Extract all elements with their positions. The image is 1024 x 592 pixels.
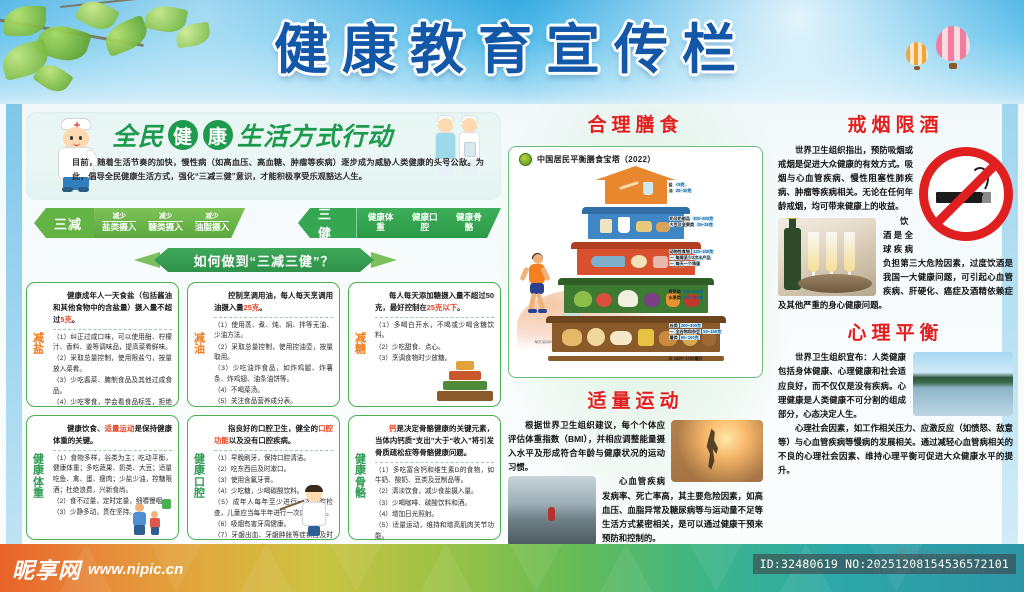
runner-figure-icon	[521, 254, 555, 316]
topic-head-reduce-sugar: 每人每天添加糖摄入量不超过50克，最好控制在25克以下。	[375, 290, 494, 314]
topic-tag-healthy-oral: 健康口腔	[191, 454, 208, 501]
list-item: （1）纠正过咸口味，可以使用醋、柠檬汁、香料、姜等调味品，提高菜肴鲜味。	[53, 333, 172, 354]
topic-box-healthy-oral: 健康口腔 指良好的口腔卫生，健全的口腔功能以及没有口腔疾病。 （1）早晚刷牙，保…	[187, 415, 340, 540]
food-pyramid-card: 中国居民平衡膳食宝塔（2022） 每天活动6000步	[508, 146, 763, 378]
list-item: （3）少吃酱菜、腌制食品及其他过咸食品。	[53, 376, 172, 397]
topic-tag-reduce-salt: 减盐	[30, 333, 47, 356]
mental-block: 世界卫生组织宣布：人类健康包括身体健康、心理健康和社会适应良好，而不仅仅是没有疾…	[778, 350, 1013, 477]
list-item: （4）增加日光照射。	[375, 510, 494, 521]
list-item: （4）少吃糖，少喝碳酸饮料。	[214, 487, 333, 498]
list-item: （2）清淡饮食，减少食盐摄入量。	[375, 487, 494, 498]
list-item: （4）不喝菜汤。	[214, 386, 333, 397]
three-reduce-three-health-banners: 三减 减少 盐类摄入 减少 糖类摄入 减少 油脂摄入	[26, 208, 501, 242]
intro-card: 全民 健 康 生活方式行动 目前，随着生活节奏的加快，慢性病（如高血压、高血糖、…	[26, 112, 501, 200]
three-health-items: 健康体重 健康口腔 健康骨骼	[357, 208, 501, 238]
list-item: （3）使用含氟牙膏。	[214, 476, 333, 487]
no-smoking-icon	[919, 147, 1013, 241]
topic-tag-reduce-oil: 减油	[191, 333, 208, 356]
list-item: （1）多喝白开水，不喝或少喝含糖饮料。	[375, 321, 494, 342]
list-item: （1）食物多样，谷类为主；吃动平衡，健康体重；多吃蔬果、奶类、大豆；适量吃鱼、禽…	[53, 454, 172, 497]
three-health-head: 三健	[298, 208, 357, 238]
list-item: （2）采取总量控制，使用限盐勺，按量放入菜肴。	[53, 354, 172, 375]
asset-id-label: ID:32480619 NO:20251208154536572101	[753, 554, 1016, 574]
page-title: 健康教育宣传栏	[0, 22, 1024, 79]
pyramid-header: 中国居民平衡膳食宝塔（2022）	[509, 147, 762, 166]
photo-champagne-glasses	[778, 218, 876, 296]
list-item: （3）少吃油炸食品，如炸鸡腿、炸薯条、炸鸡翅、油条油饼等。	[214, 364, 333, 385]
list-item: （2）采取总量控制，使用控油壶，按量取用。	[214, 343, 333, 364]
pyramid-label-protein: 动物性食物 120~200克 —每周至少2次水产品 —每天一个鸡蛋	[669, 249, 715, 267]
list-item: （1）使用蒸、煮、炖、焖、拌等无油、少油方法。	[214, 321, 333, 342]
three-reduce-banner: 三减 减少 盐类摄入 减少 糖类摄入 减少 油脂摄入	[34, 208, 245, 238]
list-item: （7）牙龈出血、牙龈肿胀等症状应及时到医院诊治。	[214, 531, 333, 540]
intro-paragraph: 目前，随着生活节奏的加快，慢性病（如高血压、高血糖、肿瘤等疾病）逐步成为威胁人类…	[72, 156, 484, 185]
health-education-poster: 健康教育宣传栏 全民 健 康 生活方式行动	[0, 0, 1024, 592]
section-title-mental: 心理平衡	[778, 318, 1013, 345]
three-health-banner: 三健 健康体重 健康口腔 健康骨骼	[298, 208, 501, 238]
slogan-badge-kang: 康	[203, 120, 233, 150]
mental-paragraph-2: 心理社会因素，如工作相关压力、应激反应（如愤怒、敌意等）与心血管疾病等慢病的发展…	[778, 421, 1013, 477]
topic-box-reduce-sugar: 减糖 每人每天添加糖摄入量不超过50克，最好控制在25克以下。 （1）多喝白开水…	[348, 282, 501, 407]
middle-column: 合理膳食 中国居民平衡膳食宝塔（2022）	[508, 110, 763, 546]
photo-lakeside-runner	[508, 476, 596, 546]
slogan-badge-jian: 健	[168, 120, 198, 150]
reduce-item-sugar: 减少 糖类摄入	[148, 213, 182, 233]
topic-head-healthy-bones: 钙是决定骨骼健康的关键元素，当体内钙质“支出”大于“收入”将引发骨质疏松症等骨骼…	[375, 423, 494, 459]
pyramid-label-vegetables: 蔬菜类 300~500克 水果类 200~350克	[669, 289, 704, 301]
topic-tag-healthy-bones: 健康骨骼	[352, 454, 369, 501]
section-title-smoking: 戒烟限酒	[778, 110, 1013, 137]
list-item: （5）关注食品营养成分表。	[214, 397, 333, 407]
topic-box-reduce-oil: 减油 控制烹调用油，每人每天烹调用油摄入量25克。 （1）使用蒸、煮、炖、焖、拌…	[187, 282, 340, 407]
topic-list-healthy-oral: （1）早晚刷牙，保持口腔清洁。 （2）吃东西后及时漱口。 （3）使用含氟牙膏。 …	[214, 454, 333, 540]
brand-url: www.nipic.cn	[88, 561, 183, 578]
topic-tag-healthy-weight: 健康体重	[30, 454, 47, 501]
list-item: （3）少喝咖啡、碳酸饮料和酒。	[375, 499, 494, 510]
list-item: （2）少吃甜食、点心。	[375, 343, 494, 354]
slogan-part-1: 全民	[112, 117, 164, 153]
health-item-weight: 健康体重	[365, 213, 397, 232]
health-item-oral: 健康口腔	[409, 213, 441, 232]
right-column: 戒烟限酒 世界卫生组织指出，预防吸烟或戒烟是促进大众健康的有效方式。吸烟与心血管…	[778, 110, 1013, 546]
balanced-diet-pyramid: 每天活动6000步 盐 <5克 油 25~30克	[517, 170, 755, 366]
topic-box-healthy-bones: 健康骨骼 钙是决定骨骼健康的关键元素，当体内钙质“支出”大于“收入”将引发骨质疏…	[348, 415, 501, 540]
list-item: （2）食不过量，定时定量，细嚼慢咽。	[53, 497, 172, 508]
topic-head-reduce-salt: 健康成年人一天食盐（包括酱油和其他食物中的含盐量）摄入量不超过5克。	[53, 290, 172, 326]
three-reduce-items: 减少 盐类摄入 减少 糖类摄入 减少 油脂摄入	[94, 208, 245, 238]
pyramid-label-water: 水 1500~1700毫升	[669, 356, 703, 362]
photo-calm-lake-forest	[913, 352, 1013, 416]
howto-wing-right	[371, 252, 397, 268]
list-item: （2）吃东西后及时漱口。	[214, 465, 333, 476]
six-topic-boxes: 减盐 健康成年人一天食盐（包括酱油和其他食物中的含盐量）摄入量不超过5克。 （1…	[26, 282, 501, 540]
list-item: （3）烹调食物时少放糖。	[375, 354, 494, 365]
topic-head-healthy-weight: 健康饮食、适量运动是保持健康体重的关键。	[53, 423, 172, 447]
section-title-diet: 合理膳食	[508, 110, 763, 137]
site-brand[interactable]: 昵享网 www.nipic.cn	[12, 553, 183, 585]
china-nutrition-society-badge-icon	[519, 153, 532, 166]
left-side-strip	[6, 104, 22, 544]
list-item: （1）多吃富含钙和维生素D的食物，如牛奶、酸奶、豆类及豆制品等。	[375, 466, 494, 487]
topic-box-reduce-salt: 减盐 健康成年人一天食盐（包括酱油和其他食物中的含盐量）摄入量不超过5克。 （1…	[26, 282, 179, 407]
pyramid-label-top: 盐 <5克 油 25~30克	[669, 182, 693, 194]
slogan-part-2: 生活方式行动	[237, 117, 393, 153]
topic-list-healthy-weight: （1）食物多样，谷类为主；吃动平衡，健康体重；多吃蔬果、奶类、大豆；适量吃鱼、禽…	[53, 454, 172, 519]
section-title-exercise: 适量运动	[508, 386, 763, 413]
howto-ribbon: 如何做到“三减三健”？	[154, 248, 374, 272]
photo-runner-sunset	[671, 420, 763, 482]
topic-list-reduce-sugar: （1）多喝白开水，不喝或少喝含糖饮料。 （2）少吃甜食、点心。 （3）烹调食物时…	[375, 321, 494, 365]
smoking-block: 世界卫生组织指出，预防吸烟或戒烟是促进大众健康的有效方式。吸烟与心血管疾病、慢性…	[778, 143, 1013, 312]
topic-head-healthy-oral: 指良好的口腔卫生，健全的口腔功能以及没有口腔疾病。	[214, 423, 333, 447]
food-pyramid-thumb-icon	[436, 361, 494, 403]
pyramid-tier-top	[605, 178, 667, 204]
three-reduce-head: 三减	[34, 208, 94, 238]
list-item: （4）少吃零食，学会看食品标签，拒绝高盐食品。	[53, 398, 172, 407]
pyramid-title: 中国居民平衡膳食宝塔（2022）	[537, 154, 656, 165]
pyramid-label-dairy: 奶及奶制品 300~500克 大豆及坚果类 25~35克	[669, 216, 715, 228]
footer-bar: 昵享网 www.nipic.cn ID:32480619 NO:20251208…	[0, 544, 1024, 592]
brand-name-cn: 昵享网	[12, 553, 81, 585]
list-item: （5）成年人每年至少进行一次口腔检查，儿童应当每半年进行一次口腔检查。	[214, 498, 333, 519]
left-panel: 全民 健 康 生活方式行动 目前，随着生活节奏的加快，慢性病（如高血压、高血糖、…	[26, 112, 501, 542]
topic-head-reduce-oil: 控制烹调用油，每人每天烹调用油摄入量25克。	[214, 290, 333, 314]
list-item: （6）吸烟有害牙周健康。	[214, 520, 333, 531]
topic-list-reduce-oil: （1）使用蒸、煮、炖、焖、拌等无油、少油方法。 （2）采取总量控制，使用控油壶，…	[214, 321, 333, 407]
pyramid-label-grains: 谷类 200~300克 —全谷物和杂豆 50~150克 薯类 50~100克	[669, 323, 723, 341]
campaign-slogan: 全民 健 康 生活方式行动	[112, 118, 393, 152]
topic-tag-reduce-sugar: 减糖	[352, 333, 369, 356]
list-item: （3）少静多动，贵在坚持。	[53, 508, 172, 519]
topic-box-healthy-weight: 健康体重 健康饮食、适量运动是保持健康体重的关键。 （1）食物多样，谷类为主；吃…	[26, 415, 179, 540]
reduce-item-salt: 减少 盐类摄入	[102, 213, 136, 233]
list-item: （1）早晚刷牙，保持口腔清洁。	[214, 454, 333, 465]
reduce-item-oil: 减少 油脂摄入	[195, 213, 229, 233]
health-item-bone: 健康骨骼	[453, 213, 485, 232]
topic-list-healthy-bones: （1）多吃富含钙和维生素D的食物，如牛奶、酸奶、豆类及豆制品等。 （2）清淡饮食…	[375, 466, 494, 540]
list-item: （5）适量运动，维持和增高肌肉关节功能。	[375, 521, 494, 540]
topic-list-reduce-salt: （1）纠正过咸口味，可以使用醋、柠檬汁、香料、姜等调味品，提高菜肴鲜味。 （2）…	[53, 333, 172, 407]
